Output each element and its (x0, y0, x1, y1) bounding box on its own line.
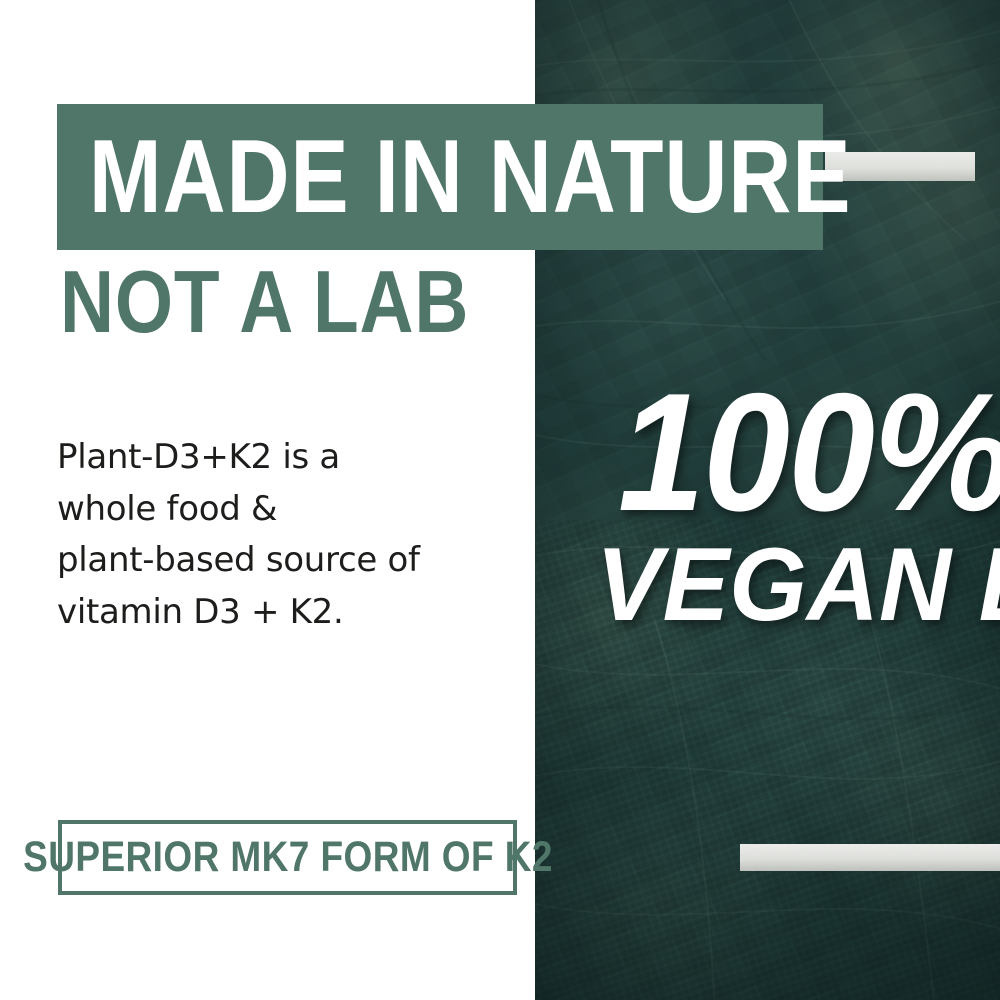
headline-banner: MADE IN NATURE (57, 104, 823, 250)
stat-value-100-percent: 100% (618, 368, 1000, 536)
product-marketing-graphic: MADE IN NATURE NOT A LAB Plant-D3+K2 is … (0, 0, 1000, 1000)
headline-line-1: MADE IN NATURE (57, 125, 851, 229)
badge-label: SUPERIOR MK7 FORM OF K2 (23, 836, 553, 879)
stat-label-vegan-d3: VEGAN D3 (596, 533, 1000, 637)
body-paragraph: Plant-D3+K2 is a whole food & plant-base… (57, 432, 497, 639)
accent-bar-bottom (740, 844, 1000, 871)
badge-superior-mk7: SUPERIOR MK7 FORM OF K2 (58, 820, 517, 895)
headline-line-2: NOT A LAB (60, 258, 469, 346)
